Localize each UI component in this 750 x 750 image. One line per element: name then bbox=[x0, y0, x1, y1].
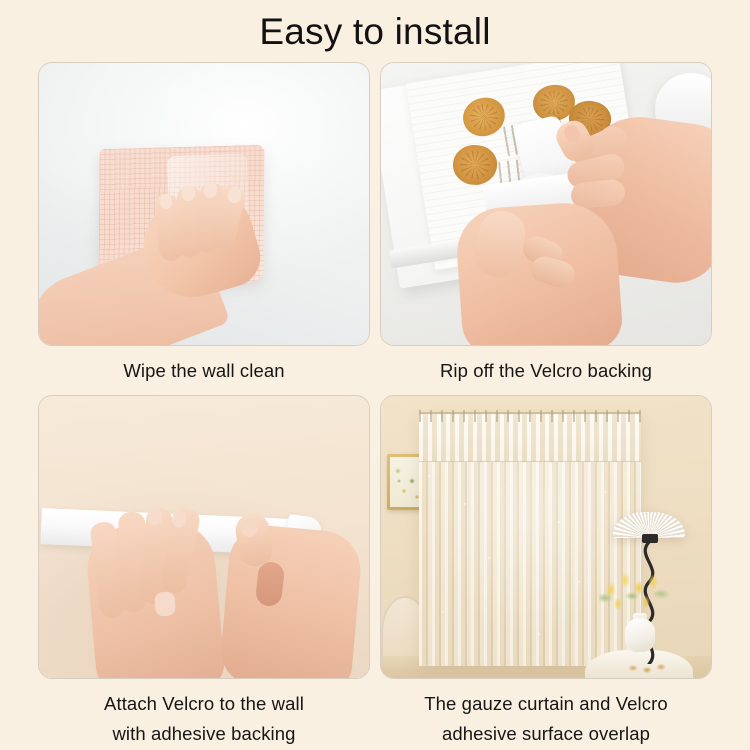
white-vase bbox=[625, 618, 655, 652]
caption-line: The gauze curtain and Velcro bbox=[380, 689, 712, 719]
fingernail bbox=[182, 185, 195, 201]
step-3-caption: Attach Velcro to the wall with adhesive … bbox=[38, 679, 370, 749]
install-step-2: Rip off the Velcro backing bbox=[380, 62, 712, 386]
caption-line: Attach Velcro to the wall bbox=[38, 689, 370, 719]
caption-line: with adhesive backing bbox=[38, 719, 370, 749]
install-step-1: Wipe the wall clean bbox=[38, 62, 370, 386]
caption-line: adhesive surface overlap bbox=[380, 719, 712, 749]
step-4-caption: The gauze curtain and Velcro adhesive su… bbox=[380, 679, 712, 749]
step-4-photo bbox=[380, 395, 712, 679]
install-step-3: Attach Velcro to the wall with adhesive … bbox=[38, 395, 370, 749]
curtain-hooks bbox=[419, 410, 641, 422]
install-step-4: The gauze curtain and Velcro adhesive su… bbox=[380, 395, 712, 749]
step-2-photo bbox=[380, 62, 712, 346]
caption-line: Rip off the Velcro backing bbox=[380, 356, 712, 386]
step-1-photo bbox=[38, 62, 370, 346]
page-title: Easy to install bbox=[0, 8, 750, 56]
caption-line: Wipe the wall clean bbox=[38, 356, 370, 386]
table-decor-nuts bbox=[625, 662, 671, 674]
step-3-photo bbox=[38, 395, 370, 679]
fingernail bbox=[154, 591, 176, 616]
print-artwork bbox=[390, 457, 422, 507]
step-1-caption: Wipe the wall clean bbox=[38, 346, 370, 386]
step-2-caption: Rip off the Velcro backing bbox=[380, 346, 712, 386]
